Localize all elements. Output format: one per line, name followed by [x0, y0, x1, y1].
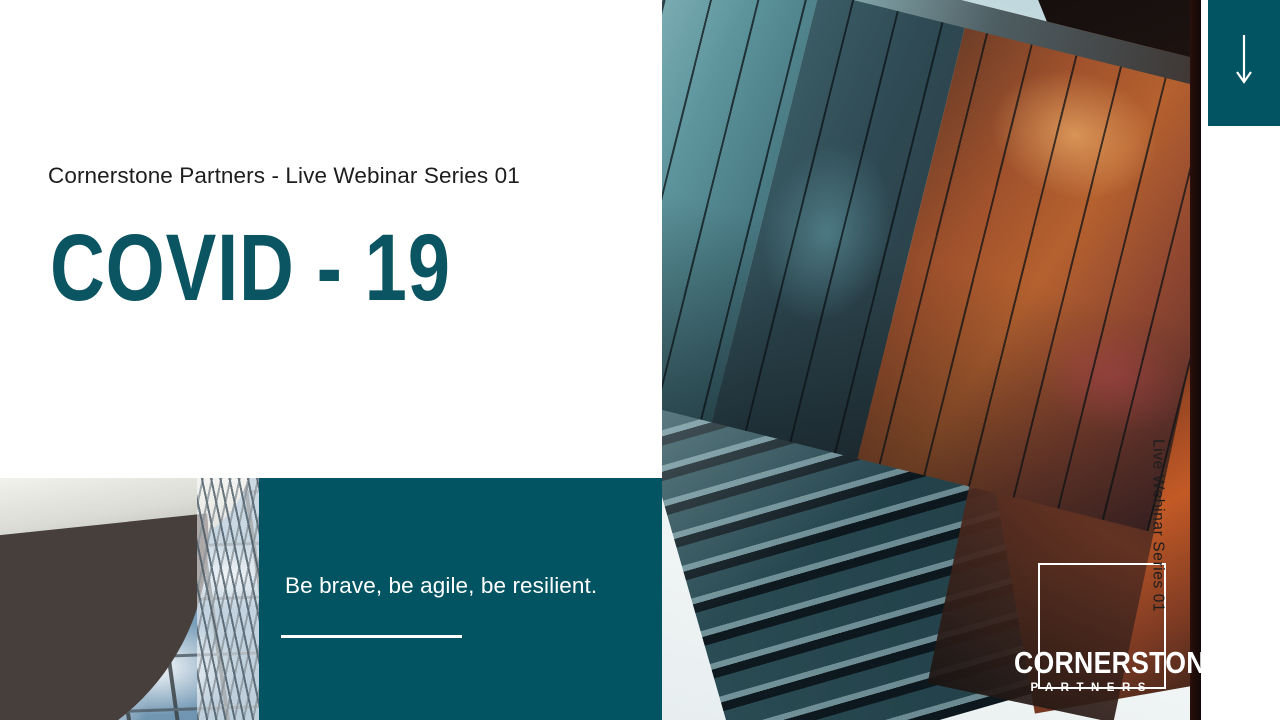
quote-text: Be brave, be agile, be resilient.: [285, 573, 645, 599]
right-sidebar: Live Webinar Series 01: [1201, 0, 1280, 720]
page-title: COVID - 19: [50, 222, 451, 315]
logo-subtitle: PARTNERS: [1002, 683, 1174, 695]
glass-atrium-photo: [0, 478, 259, 720]
vertical-series-label: Live Webinar Series 01: [1208, 0, 1280, 720]
logo: CORNERSTONE PARTNERS: [1038, 563, 1166, 689]
eyebrow-text: Cornerstone Partners - Live Webinar Seri…: [48, 163, 520, 189]
vertical-series-text: Live Webinar Series 01: [1148, 439, 1166, 612]
title-pane: Cornerstone Partners - Live Webinar Seri…: [0, 0, 662, 478]
atrium-mesh: [197, 478, 259, 720]
main-photo: CORNERSTONE PARTNERS: [662, 0, 1201, 720]
quote-panel: Be brave, be agile, be resilient.: [259, 478, 662, 720]
presentation-slide: Cornerstone Partners - Live Webinar Seri…: [0, 0, 1280, 720]
logo-name: CORNERSTONE: [1014, 647, 1162, 678]
photo-right-shadow-strip: [1190, 0, 1201, 720]
logo-wordmark: CORNERSTONE PARTNERS: [1002, 647, 1174, 695]
quote-underline-rule: [281, 635, 462, 638]
